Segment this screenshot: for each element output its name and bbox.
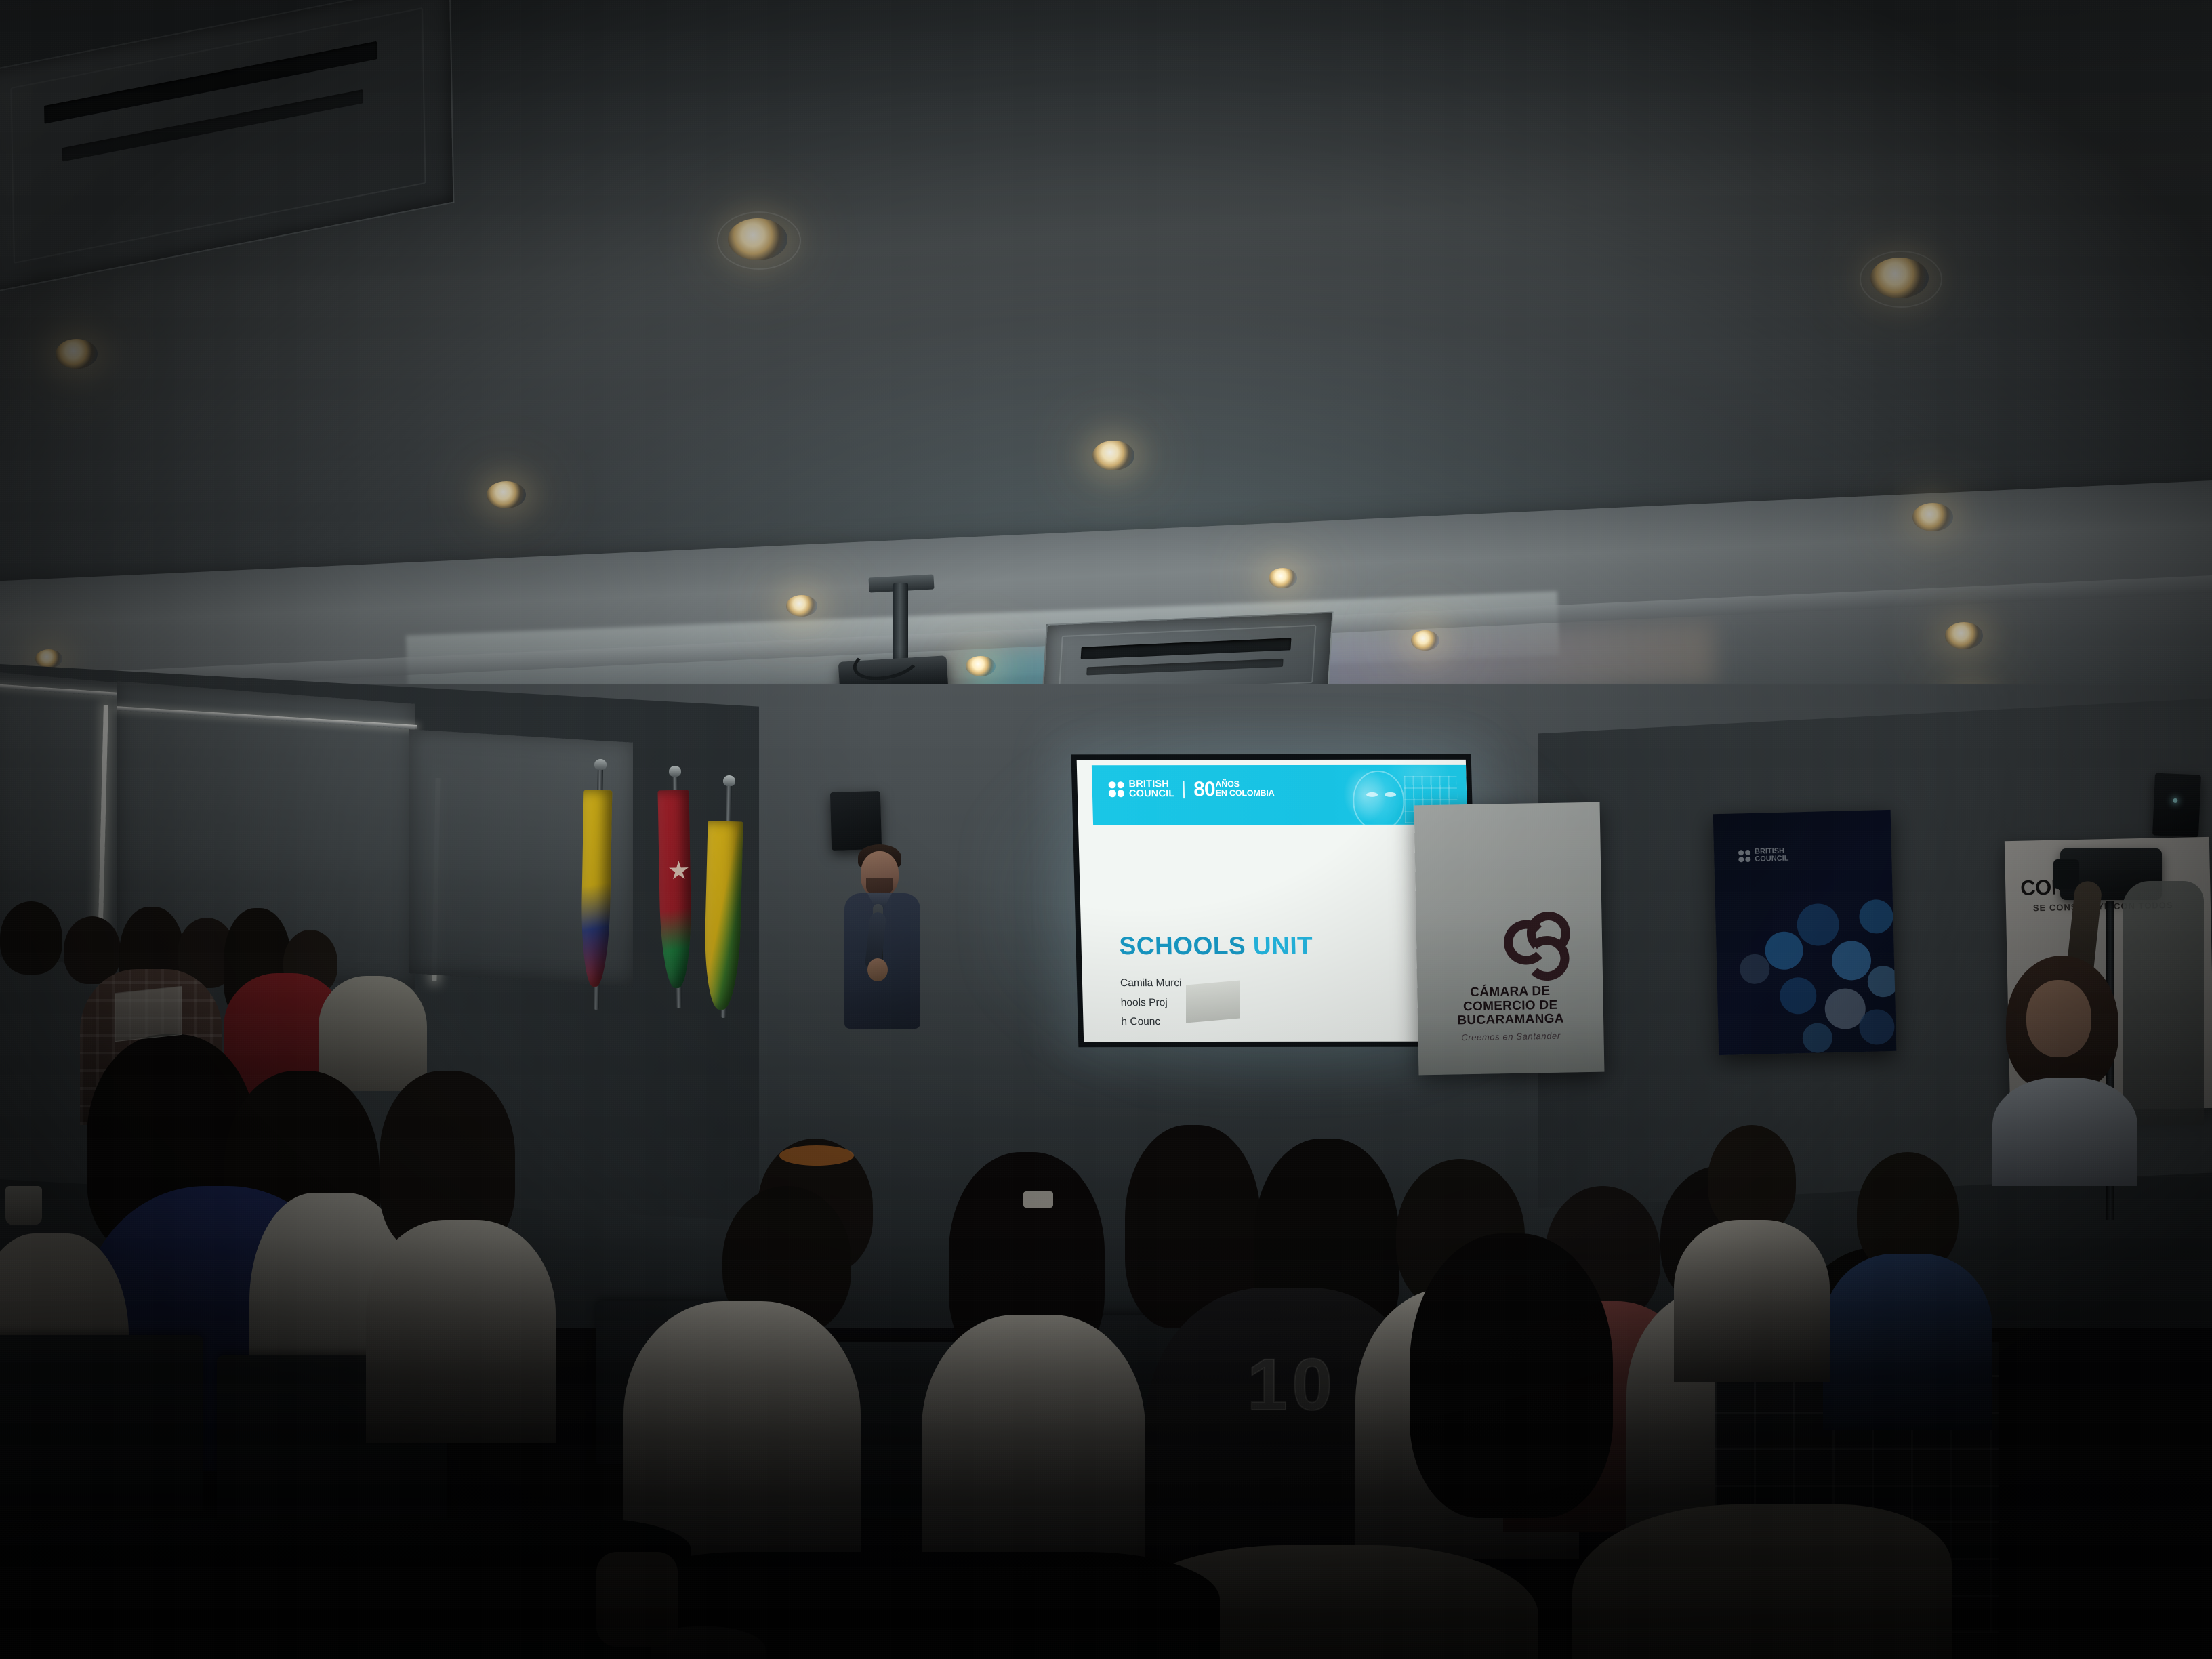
ceiling-spotlight <box>1092 441 1134 470</box>
anniversary-number: 80 <box>1193 780 1215 798</box>
british-council-dots-icon <box>1738 849 1751 862</box>
audience: 10 <box>0 867 2212 1659</box>
ceiling-spotlight <box>35 649 62 668</box>
ceiling-spotlight <box>1411 630 1439 651</box>
ceiling-spotlight <box>1912 503 1953 531</box>
british-council-banner-wordmark: BRITISH COUNCIL <box>1755 848 1789 863</box>
laptop-screen <box>115 986 182 1042</box>
chair-back <box>0 1335 203 1511</box>
audience-blue-shirt <box>1823 1254 1992 1430</box>
ceiling-spotlight <box>487 481 526 508</box>
audience-head <box>64 916 121 984</box>
student-cream-sweater <box>1572 1504 1952 1659</box>
ceiling-spotlight-ring <box>1860 251 1942 308</box>
audience-white-shirt <box>1674 1220 1830 1382</box>
student-leg <box>596 1552 678 1647</box>
anniversary-text: AÑOS EN COLOMBIA <box>1215 780 1274 797</box>
wall-speaker-right <box>2152 773 2201 838</box>
student-white-shirt <box>922 1315 1145 1586</box>
hair-band <box>779 1145 854 1166</box>
portrait-eyes <box>1366 792 1396 798</box>
ceiling-spotlight-ring <box>717 211 801 270</box>
logo-divider <box>1183 781 1185 798</box>
ceiling-spotlight <box>56 339 98 369</box>
british-council-wordmark: BRITISH COUNCIL <box>1128 780 1174 798</box>
paper-cup <box>5 1186 42 1225</box>
british-council-logo: BRITISH COUNCIL 80 AÑOS EN COLOMBIA <box>1108 780 1274 798</box>
audience-shirt-white <box>319 976 427 1091</box>
flag-finial <box>723 775 735 786</box>
audience-head <box>1410 1233 1613 1518</box>
bc-banner-line-2: COUNCIL <box>1755 855 1788 863</box>
ceiling-spotlight <box>1945 622 1983 649</box>
flag-finial <box>669 766 681 777</box>
laptop-screen <box>1186 981 1240 1023</box>
anniversary-line-2: EN COLOMBIA <box>1216 789 1275 798</box>
student-white-shirt <box>366 1220 556 1443</box>
foreground-seat-row <box>0 1518 691 1659</box>
jersey-number: 10 <box>1247 1342 1336 1427</box>
british-council-banner-logo: BRITISH COUNCIL <box>1738 848 1789 864</box>
hair-clip-icon <box>1023 1191 1053 1208</box>
flag-finial <box>594 759 607 770</box>
bc-line-2: COUNCIL <box>1129 790 1175 799</box>
auditorium-photo: BRITISH COUNCIL 80 AÑOS EN COLOMBIA SCHO… <box>0 0 2212 1659</box>
ceiling-spotlight <box>966 656 996 676</box>
british-council-dots-icon <box>1108 781 1125 798</box>
ceiling-spotlight <box>1269 568 1297 588</box>
speaker-led-icon <box>2173 798 2177 803</box>
audience-head <box>1708 1125 1796 1233</box>
audience-head <box>0 901 62 975</box>
ceiling-spotlight <box>786 595 817 617</box>
anniversary-line-1: AÑOS <box>1215 780 1274 789</box>
